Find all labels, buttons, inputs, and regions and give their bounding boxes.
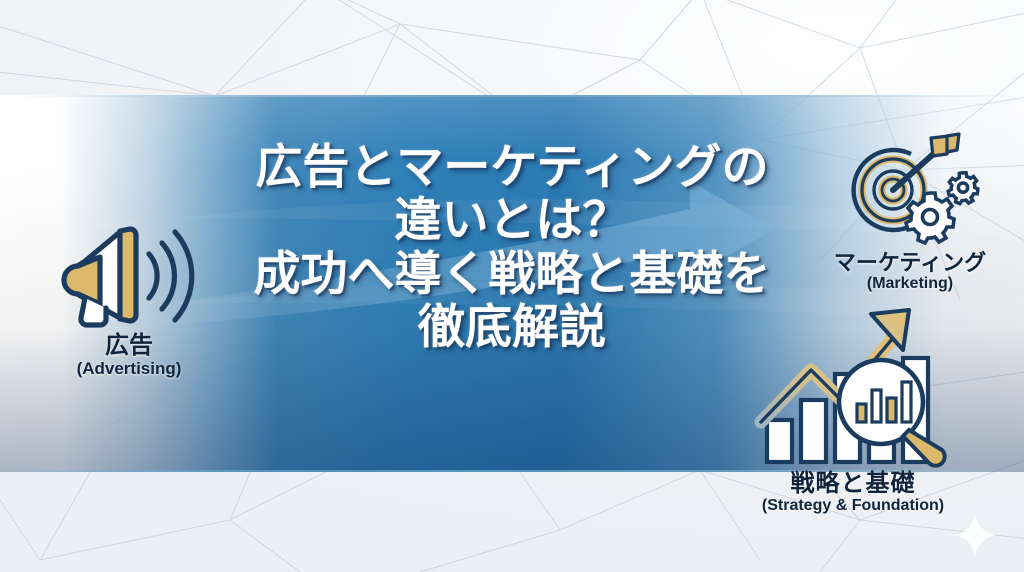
strategy-icon-block: 戦略と基礎 (Strategy & Foundation) <box>728 300 978 515</box>
megaphone-icon <box>34 218 224 335</box>
marketing-icon-block: マーケティング (Marketing) <box>800 132 1020 293</box>
headline-line-2: 違いとは？ <box>176 193 848 246</box>
advertising-label-en: (Advertising) <box>34 360 224 379</box>
target-dartboard-gears-icon <box>800 132 1020 255</box>
marketing-label-jp: マーケティング <box>800 251 1020 274</box>
title-card: 広告とマーケティングの 違いとは？ 成功へ導く戦略と基礎を 徹底解説 <box>0 0 1024 572</box>
advertising-label-jp: 広告 <box>34 333 224 358</box>
growth-chart-magnifier-icon <box>728 300 978 477</box>
headline-line-3: 成功へ導く戦略と基礎を <box>176 247 848 300</box>
marketing-label-en: (Marketing) <box>800 275 1020 293</box>
strategy-label-en: (Strategy & Foundation) <box>728 497 978 515</box>
four-point-sparkle <box>952 512 998 558</box>
advertising-icon-block: 広告 (Advertising) <box>34 218 224 379</box>
headline-line-1: 広告とマーケティングの <box>176 140 848 193</box>
